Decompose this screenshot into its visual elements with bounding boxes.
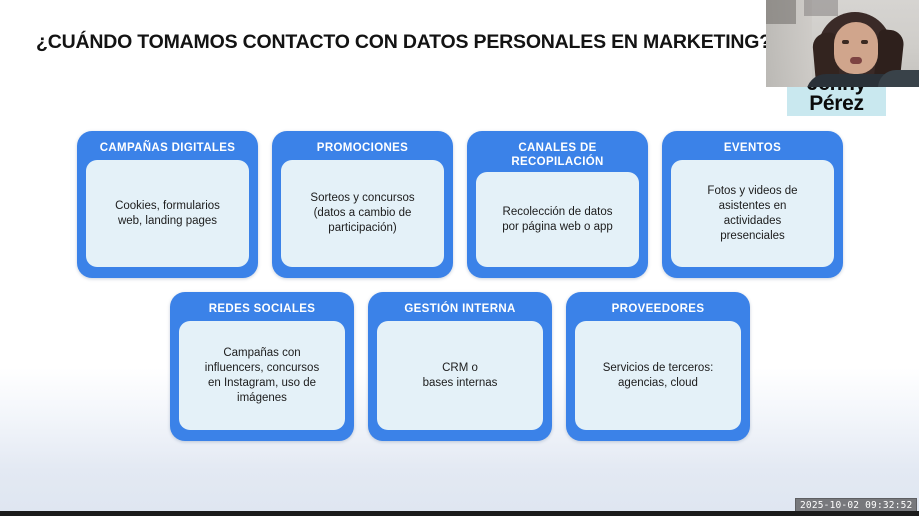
card-body: Servicios de terceros: agencias, cloud [575, 321, 741, 430]
card-title: CAMPAÑAS DIGITALES [100, 141, 236, 155]
card-body: Campañas con influencers, concursos en I… [179, 321, 345, 430]
page-title: ¿CUÁNDO TOMAMOS CONTACTO CON DATOS PERSO… [36, 31, 771, 54]
card-redes-sociales[interactable]: REDES SOCIALES Campañas con influencers,… [170, 292, 354, 441]
card-body: Cookies, formularios web, landing pages [86, 160, 249, 267]
card-title: EVENTOS [724, 141, 781, 155]
card-campanas-digitales[interactable]: CAMPAÑAS DIGITALES Cookies, formularios … [77, 131, 258, 278]
webcam-door-frame [766, 0, 796, 24]
speaker-eye-left [842, 40, 849, 44]
webcam-wall-panel [804, 0, 838, 16]
card-title: REDES SOCIALES [209, 302, 316, 316]
speaker-last-name: Pérez [809, 93, 864, 114]
card-body: Sorteos y concursos (datos a cambio de p… [281, 160, 444, 267]
bottom-border [0, 511, 919, 516]
card-body: Recolección de datos por página web o ap… [476, 172, 639, 267]
card-body: CRM o bases internas [377, 321, 543, 430]
card-eventos[interactable]: EVENTOS Fotos y videos de asistentes en … [662, 131, 843, 278]
card-canales-de-recopilacion[interactable]: CANALES DE RECOPILACIÓN Recolección de d… [467, 131, 648, 278]
card-title: GESTIÓN INTERNA [404, 302, 515, 316]
speaker-eye-right [861, 40, 868, 44]
card-proveedores[interactable]: PROVEEDORES Servicios de terceros: agenc… [566, 292, 750, 441]
webcam-video-overlay[interactable] [766, 0, 919, 87]
recording-timestamp: 2025-10-02 09:32:52 [795, 498, 917, 512]
screen-capture: ¿CUÁNDO TOMAMOS CONTACTO CON DATOS PERSO… [0, 0, 919, 516]
card-title: PROVEEDORES [612, 302, 705, 316]
card-promociones[interactable]: PROMOCIONES Sorteos y concursos (datos a… [272, 131, 453, 278]
card-gestion-interna[interactable]: GESTIÓN INTERNA CRM o bases internas [368, 292, 552, 441]
card-body: Fotos y videos de asistentes en activida… [671, 160, 834, 267]
speaker-face [834, 22, 878, 74]
card-title: CANALES DE RECOPILACIÓN [511, 141, 603, 169]
card-title: PROMOCIONES [317, 141, 408, 155]
speaker-mouth [850, 57, 862, 64]
